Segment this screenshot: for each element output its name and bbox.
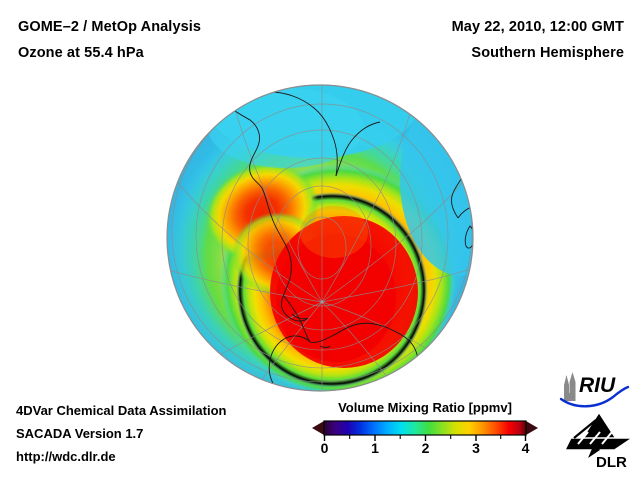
dlr-arrow-icon xyxy=(568,416,626,458)
riu-wordmark: RIU xyxy=(579,374,616,397)
colorbar-scale xyxy=(306,418,544,442)
colorbar-tick-2: 2 xyxy=(422,440,430,456)
colorbar-low-cap xyxy=(312,421,324,435)
colorbar-tick-4: 4 xyxy=(522,440,530,456)
colorbar-tick-0: 0 xyxy=(321,440,329,456)
colorbar-tick-labels: 0 1 2 3 4 xyxy=(306,440,544,462)
footer-url[interactable]: http://wdc.dlr.de xyxy=(16,449,116,464)
south-pole-marker xyxy=(320,300,323,303)
cathedral-spires-icon xyxy=(564,372,576,401)
footer-method: 4DVar Chemical Data Assimilation xyxy=(16,403,227,418)
analysis-title-line1: GOME–2 / MetOp Analysis xyxy=(18,19,201,35)
riu-logo: RIU xyxy=(559,371,631,411)
dlr-wordmark: DLR xyxy=(596,454,627,471)
footer-version: SACADA Version 1.7 xyxy=(16,426,143,441)
colorbar-tick-1: 1 xyxy=(371,440,379,456)
dlr-logo: DLR xyxy=(566,414,634,472)
colorbar-tick-3: 3 xyxy=(472,440,480,456)
analysis-title-line2: Ozone at 55.4 hPa xyxy=(18,45,144,61)
colorbar: Volume Mixing Ratio [ppmv] xyxy=(306,400,544,466)
analysis-datetime: May 22, 2010, 12:00 GMT xyxy=(452,19,624,35)
colorbar-high-cap xyxy=(526,421,538,435)
analysis-region: Southern Hemisphere xyxy=(471,45,624,61)
ozone-globe-map xyxy=(166,84,474,392)
colorbar-title: Volume Mixing Ratio [ppmv] xyxy=(306,400,544,415)
